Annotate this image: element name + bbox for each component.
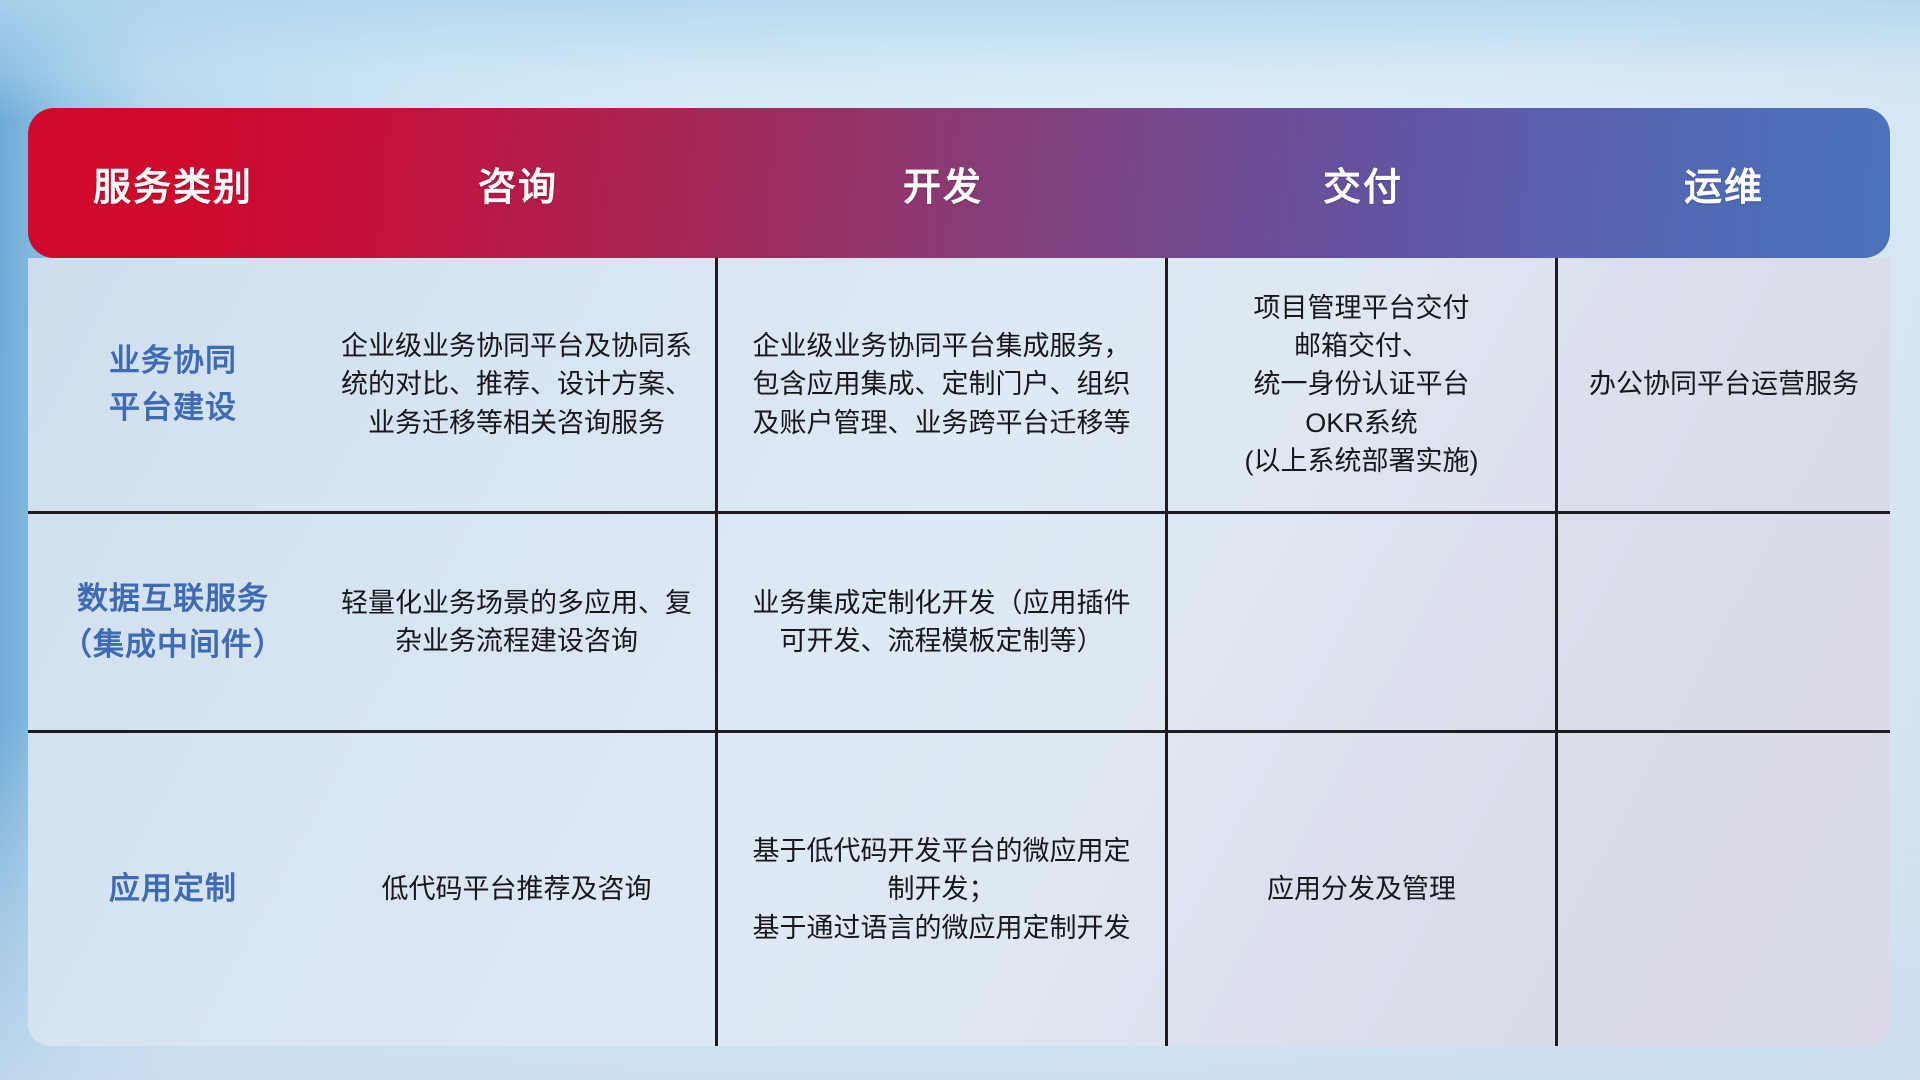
cell-development-row2: 业务集成定制化开发（应用插件 可开发、流程模板定制等） [718,514,1165,730]
background-top-gradient [0,0,1920,120]
cell-operations-row2 [1558,514,1890,730]
column-header-category: 服务类别 [28,108,318,258]
cell-consulting-row2: 轻量化业务场景的多应用、复 杂业务流程建设咨询 [318,514,715,730]
table-body: 业务协同 平台建设 企业级业务协同平台及协同系 统的对比、推荐、设计方案、 业务… [28,258,1890,1046]
cell-category-row2: 数据互联服务 （集成中间件） [28,514,318,730]
cell-delivery-row2 [1168,514,1555,730]
service-matrix-table: 服务类别 咨询 开发 交付 运维 业务协同 平台建设 企业级业务协同平台及协同系… [28,108,1890,1046]
cell-category-row1: 业务协同 平台建设 [28,258,318,511]
cell-category-row3: 应用定制 [28,733,318,1046]
cell-development-row1: 企业级业务协同平台集成服务， 包含应用集成、定制门户、组织 及账户管理、业务跨平… [718,258,1165,511]
column-header-delivery: 交付 [1168,108,1558,258]
table-header-row: 服务类别 咨询 开发 交付 运维 [28,108,1890,258]
column-header-development: 开发 [718,108,1168,258]
cell-consulting-row1: 企业级业务协同平台及协同系 统的对比、推荐、设计方案、 业务迁移等相关咨询服务 [318,258,715,511]
cell-operations-row1: 办公协同平台运营服务 [1558,258,1890,511]
cell-consulting-row3: 低代码平台推荐及咨询 [318,733,715,1046]
column-header-consulting: 咨询 [318,108,718,258]
cell-delivery-row3: 应用分发及管理 [1168,733,1555,1046]
cell-operations-row3 [1558,733,1890,1046]
cell-development-row3: 基于低代码开发平台的微应用定 制开发； 基于通过语言的微应用定制开发 [718,733,1165,1046]
cell-delivery-row1: 项目管理平台交付 邮箱交付、 统一身份认证平台 OKR系统 (以上系统部署实施) [1168,258,1555,511]
column-header-operations: 运维 [1558,108,1890,258]
